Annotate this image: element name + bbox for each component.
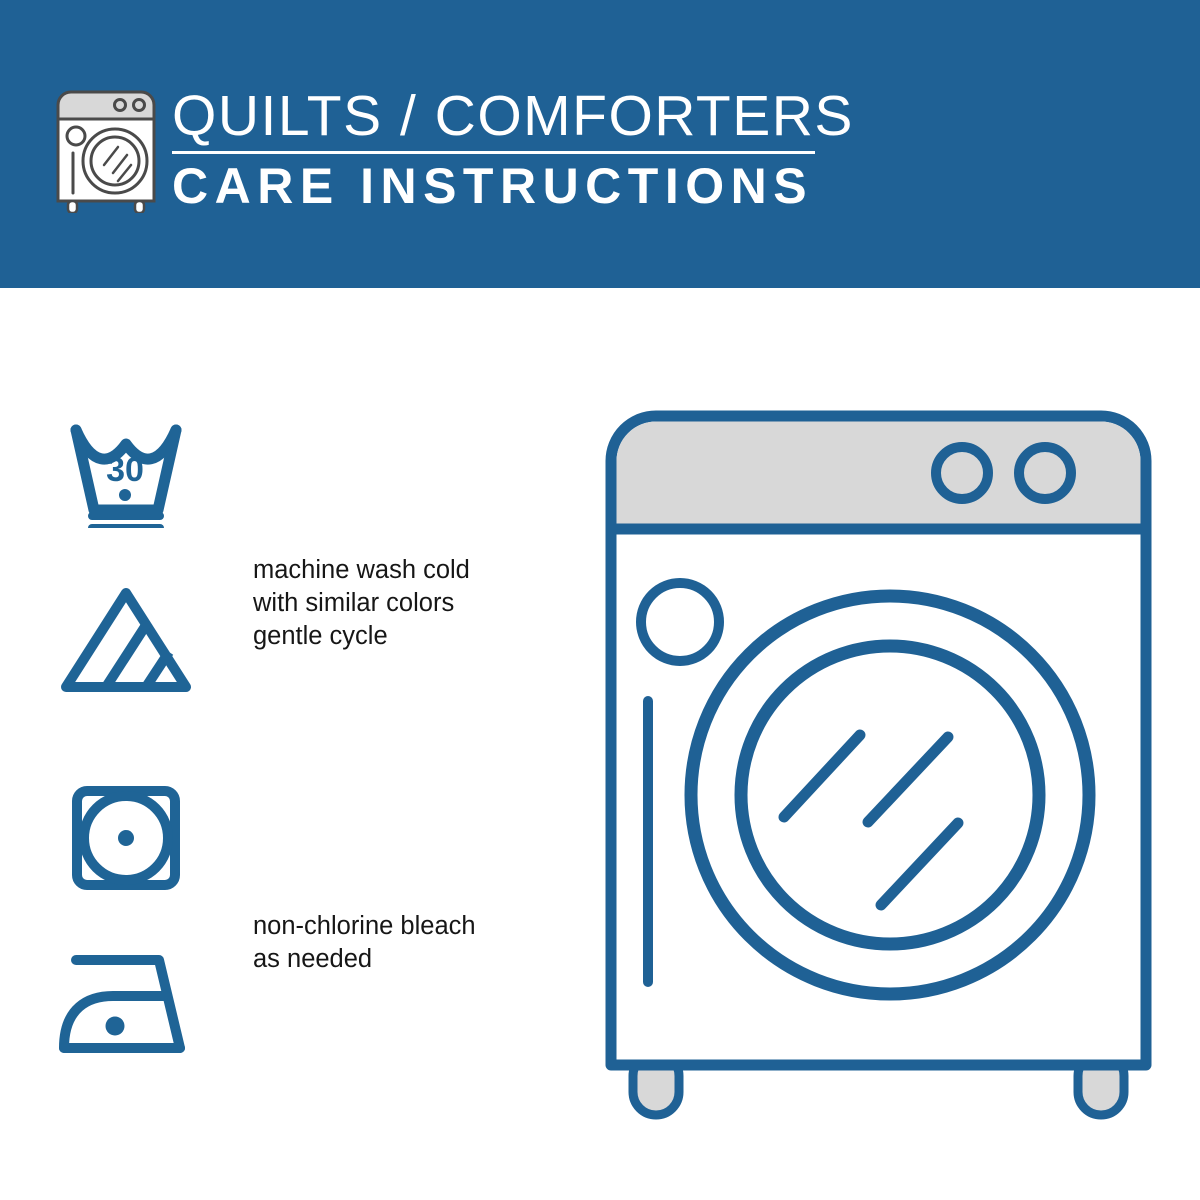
page-title: QUILTS / COMFORTERS bbox=[172, 88, 832, 145]
iron-low-heat-icon bbox=[58, 950, 204, 1061]
header-band: QUILTS / COMFORTERS CARE INSTRUCTIONS bbox=[0, 0, 1200, 288]
care-label-bleach: non-chlorine bleach as needed bbox=[253, 910, 476, 976]
title-divider bbox=[172, 151, 815, 154]
tumble-dry-low-heat-icon bbox=[58, 783, 194, 898]
wash-temp-value: 30 bbox=[106, 451, 144, 489]
washing-machine-icon bbox=[52, 83, 160, 213]
care-symbol-list: 30 machine wash cold with similar colors… bbox=[0, 288, 560, 1200]
front-load-washing-machine-illustration bbox=[600, 405, 1160, 1120]
header-text-block: QUILTS / COMFORTERS CARE INSTRUCTIONS bbox=[172, 88, 832, 211]
wash-basin-30-gentle-icon: 30 bbox=[58, 418, 194, 533]
non-chlorine-bleach-triangle-icon bbox=[58, 585, 194, 700]
page-subtitle: CARE INSTRUCTIONS bbox=[172, 161, 832, 211]
care-instructions-infographic: QUILTS / COMFORTERS CARE INSTRUCTIONS 30 bbox=[0, 0, 1200, 1200]
care-label-wash: machine wash cold with similar colors ge… bbox=[253, 554, 470, 653]
